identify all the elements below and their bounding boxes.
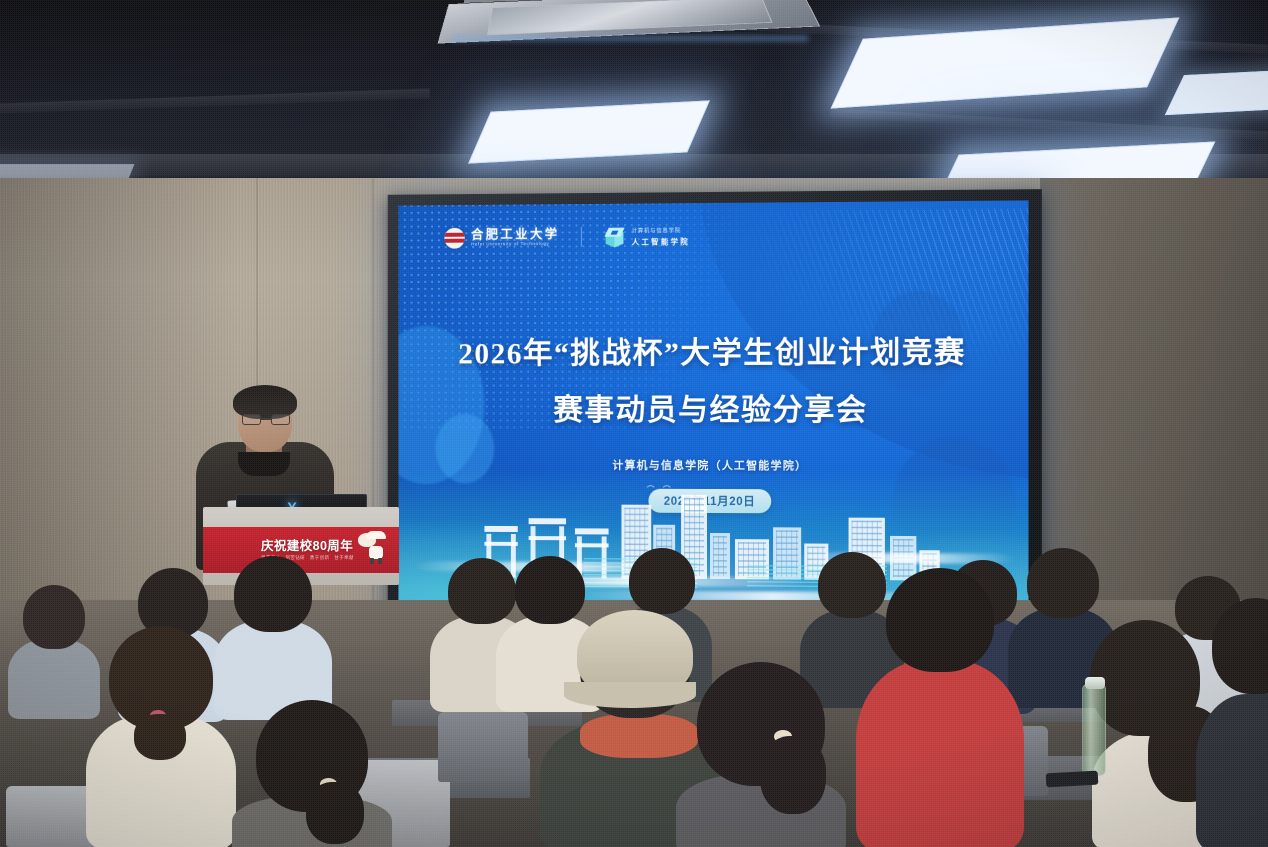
college-logo: 计算机与信息学院 人工智能学院	[604, 225, 690, 248]
ceiling-beam	[0, 88, 430, 113]
ac-diffuser-grille	[487, 0, 773, 35]
water-bottle	[1082, 684, 1106, 776]
audience-member	[1196, 598, 1268, 847]
mascot-icon	[365, 533, 387, 565]
ponytail	[760, 736, 826, 814]
person-head	[886, 568, 994, 672]
ponytail	[134, 714, 186, 760]
slide-title-line-2: 赛事动员与经验分享会	[398, 381, 1028, 439]
audience-member	[676, 662, 846, 847]
person-head	[23, 585, 85, 649]
seat-back	[438, 712, 528, 782]
cube-icon	[604, 226, 626, 248]
eyeglasses-icon	[242, 414, 290, 425]
ceiling-beam	[830, 109, 1268, 141]
person-head	[234, 556, 312, 632]
birds-icon: ︵ ︵	[647, 479, 674, 490]
ac-edge-glow	[452, 36, 808, 41]
person-head	[629, 548, 695, 614]
hfut-emblem-icon	[445, 228, 466, 249]
slide-logo-row: 合肥工业大学 Hefei University of Technology 计算…	[445, 225, 691, 249]
ceiling	[0, 0, 1268, 196]
hfut-logo: 合肥工业大学 Hefei University of Technology	[445, 227, 560, 249]
hfut-logo-en: Hefei University of Technology	[471, 242, 559, 247]
hfut-logo-cn: 合肥工业大学	[471, 228, 559, 241]
audience-member	[232, 700, 392, 847]
college-logo-line2: 人工智能学院	[632, 236, 690, 247]
person-torso	[1196, 694, 1268, 847]
led-panel-light	[1165, 69, 1268, 115]
ponytail	[306, 782, 364, 844]
presenter-collar	[238, 452, 290, 476]
person-head	[1212, 598, 1268, 694]
building	[710, 533, 730, 579]
person-torso	[856, 660, 1024, 847]
audience-member	[86, 626, 236, 847]
banner-main-text: 庆祝建校80周年	[261, 540, 354, 553]
slide-title: 2026年“挑战杯”大学生创业计划竞赛 赛事动员与经验分享会	[398, 324, 1028, 439]
college-logo-line1: 计算机与信息学院	[632, 226, 690, 234]
logo-divider	[581, 227, 582, 247]
lecture-hall-photo: 合肥工业大学 Hefei University of Technology 计算…	[0, 0, 1268, 847]
audience-member	[856, 568, 1024, 847]
smartphone	[1046, 771, 1099, 788]
slide-title-line-1: 2026年“挑战杯”大学生创业计划竞赛	[398, 324, 1028, 382]
person-head	[1027, 548, 1099, 618]
presentation-slide: 合肥工业大学 Hefei University of Technology 计算…	[398, 200, 1028, 611]
